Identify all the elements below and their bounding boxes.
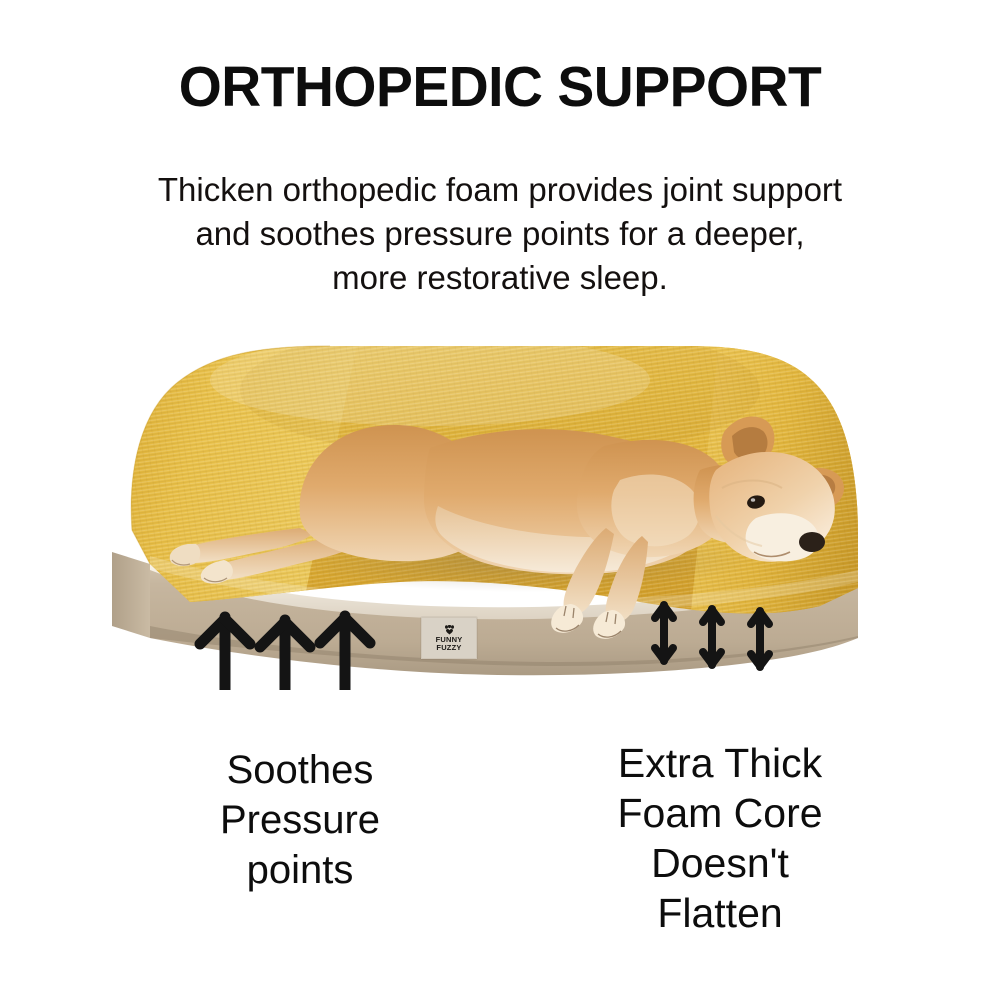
subtitle-line-2: and soothes pressure points for a deeper… [0,212,1000,256]
callout-right-line-2: Foam Core [545,788,895,838]
page-title: ORTHOPEDIC SUPPORT [15,56,985,118]
callout-right-line-4: Flatten [545,888,895,938]
paw-heart-icon [444,625,455,635]
product-photo: FUNNY FUZZY [0,320,1000,690]
callout-left-line-2: Pressure [135,795,465,845]
callout-left-line-3: points [135,845,465,895]
callout-right-line-1: Extra Thick [545,738,895,788]
callout-caption-left: Soothes Pressure points [135,745,465,895]
subtitle-line-3: more restorative sleep. [0,256,1000,300]
marketing-image: ORTHOPEDIC SUPPORT Thicken orthopedic fo… [0,0,1000,1000]
bed-base-left-face [112,552,150,638]
dog-nose [799,532,825,552]
subtitle-block: Thicken orthopedic foam provides joint s… [0,168,1000,300]
callout-right-line-3: Doesn't [545,838,895,888]
brand-name-line-2: FUZZY [436,644,461,652]
callout-left-line-1: Soothes [135,745,465,795]
brand-tag: FUNNY FUZZY [421,617,477,659]
callout-caption-right: Extra Thick Foam Core Doesn't Flatten [545,738,895,938]
dog-bed-illustration [0,320,1000,690]
callout-arrows-left-fg [200,616,370,690]
subtitle-line-1: Thicken orthopedic foam provides joint s… [0,168,1000,212]
